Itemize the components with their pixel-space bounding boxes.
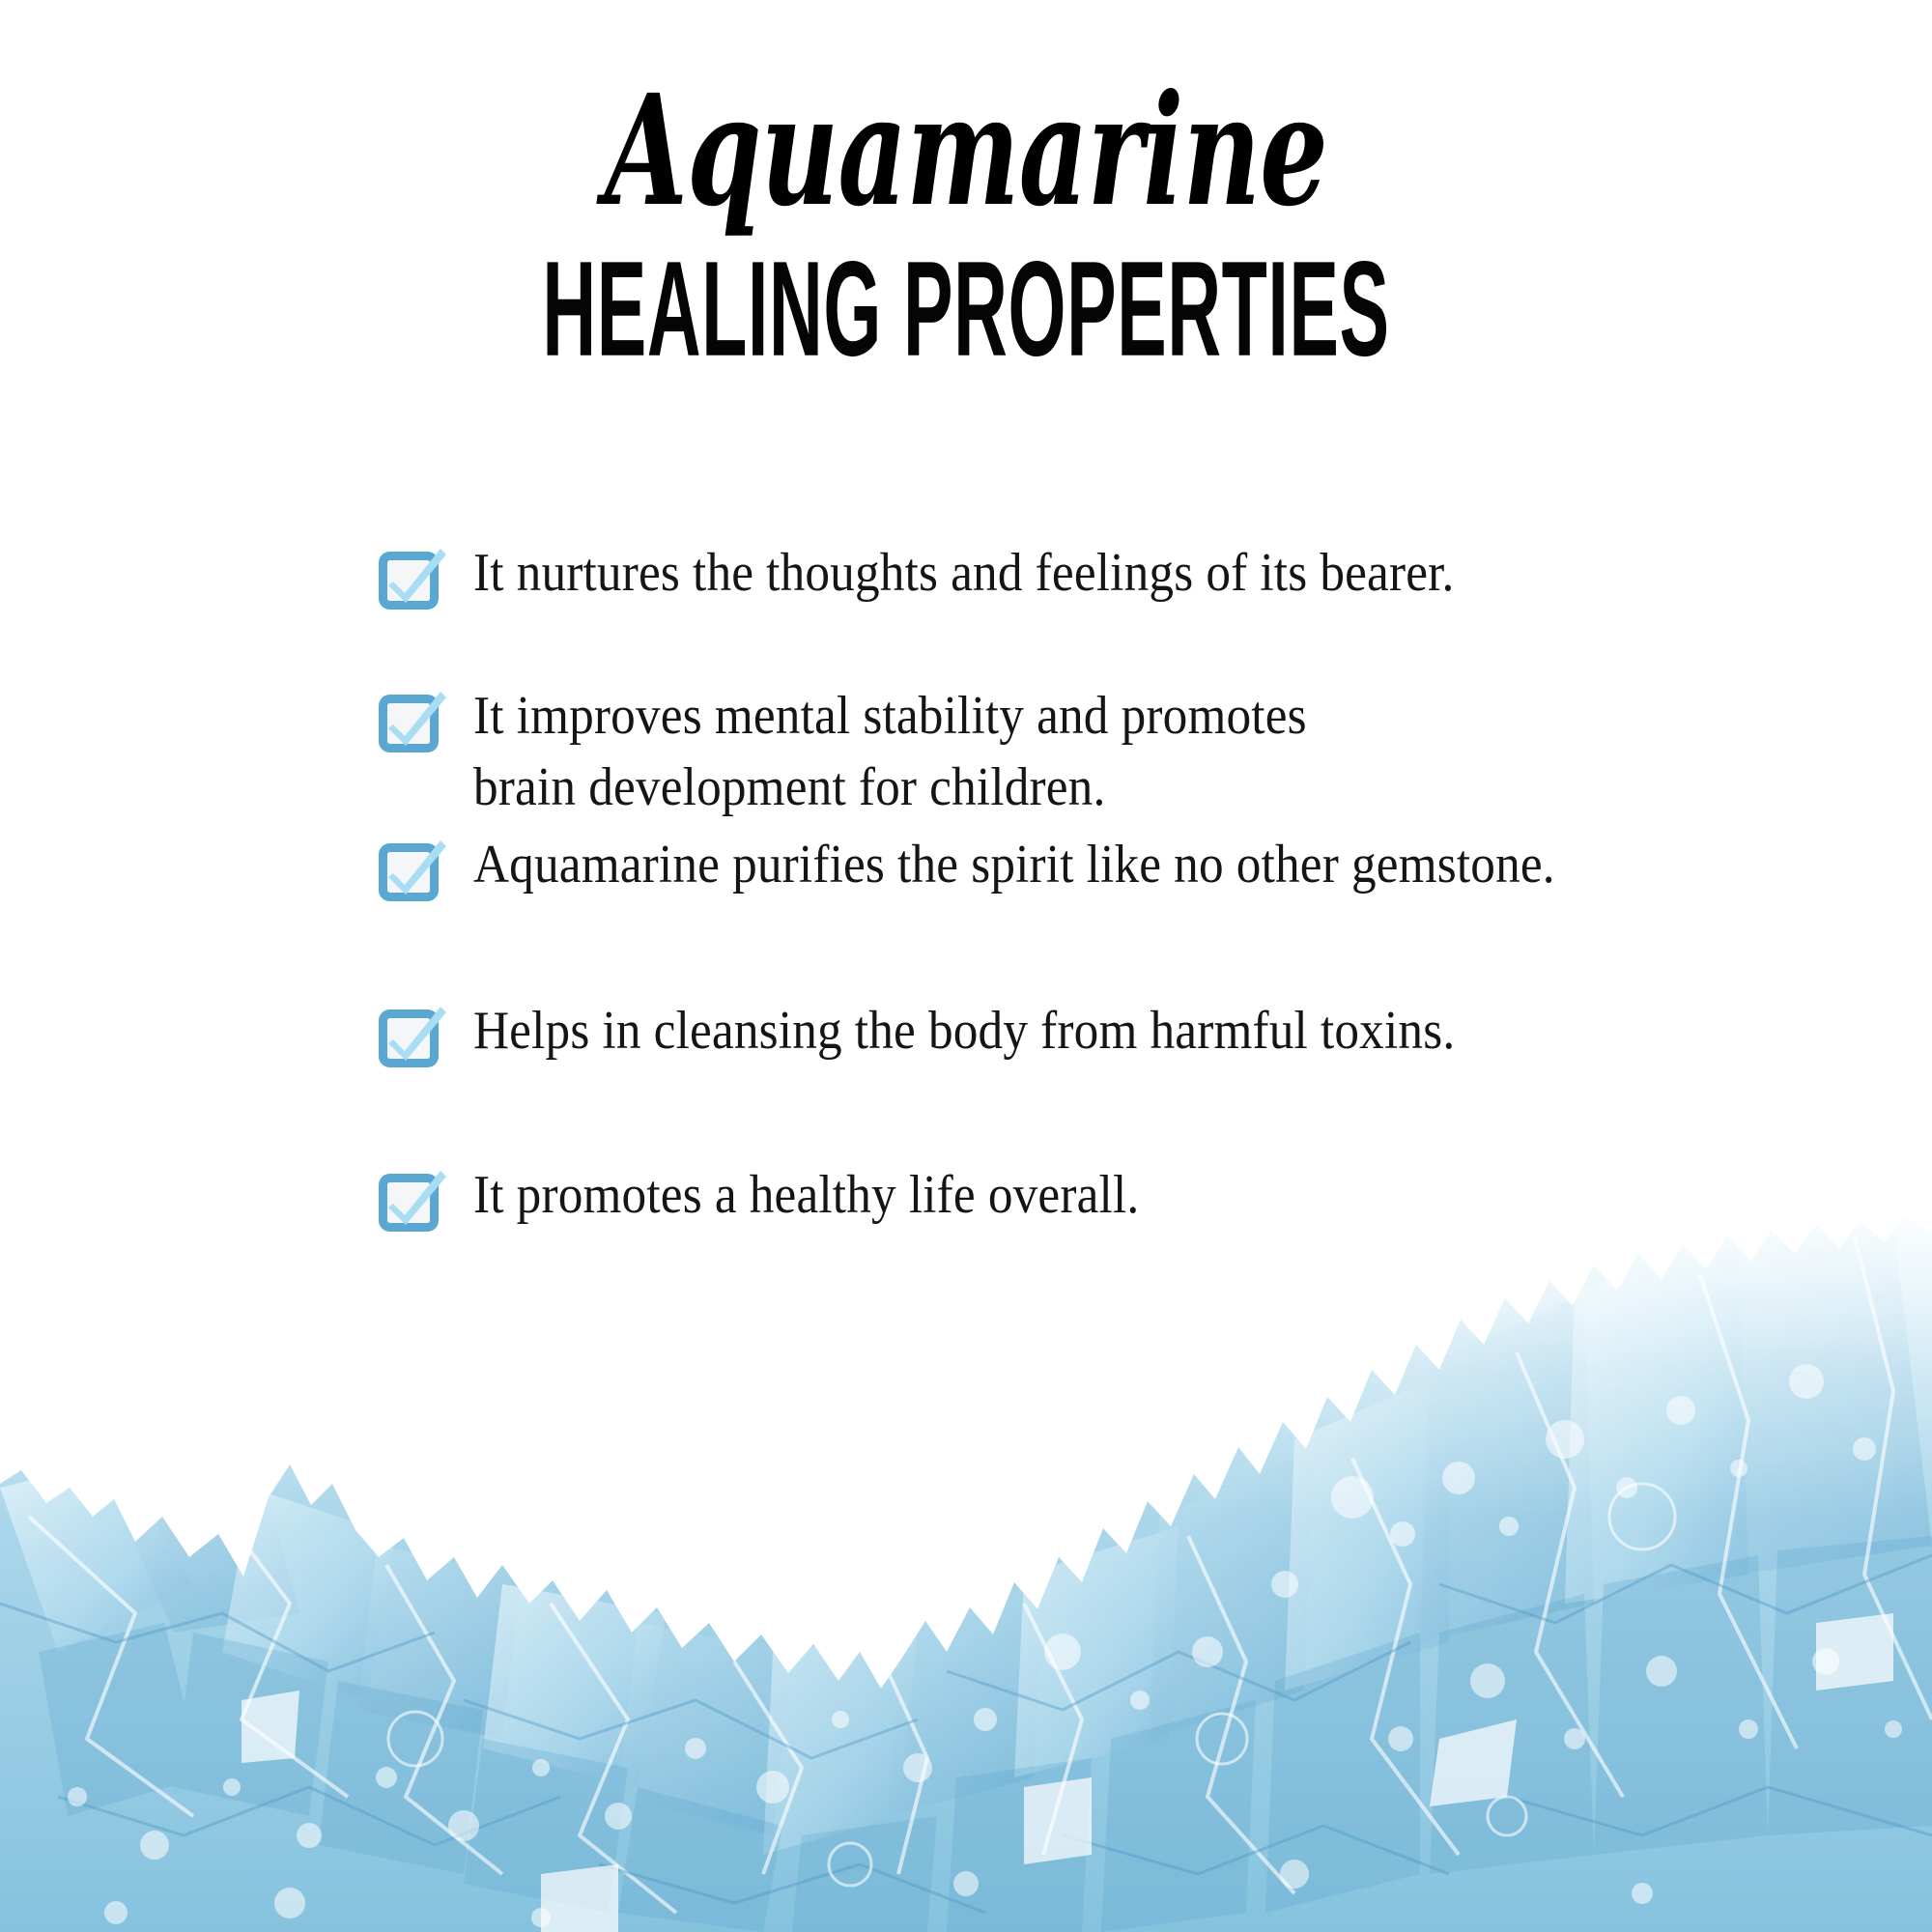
list-item: It nurtures the thoughts and feelings of… [379, 537, 1546, 612]
checked-checkbox-icon [379, 686, 448, 755]
page-title: Aquamarine [290, 75, 1642, 228]
poster-canvas: Aquamarine HEALING PROPERTIES It nurture… [0, 0, 1932, 1932]
ice-cubes-photo [0, 1198, 1932, 1932]
page-subtitle: HEALING PROPERTIES [401, 241, 1531, 377]
list-item-label: It nurtures the thoughts and feelings of… [473, 537, 1455, 609]
checked-checkbox-icon [379, 835, 448, 904]
list-item-label: It improves mental stability and promote… [473, 680, 1307, 824]
checked-checkbox-icon [379, 1001, 448, 1070]
list-item-label: Helps in cleansing the body from harmful… [473, 995, 1455, 1066]
list-item-label: Aquamarine purifies the spirit like no o… [473, 829, 1555, 900]
heading-block: Aquamarine HEALING PROPERTIES [0, 75, 1932, 373]
ice-cubes-illustration [0, 1198, 1932, 1932]
list-item: Helps in cleansing the body from harmful… [379, 995, 1547, 1070]
list-item: Aquamarine purifies the spirit like no o… [379, 829, 1656, 904]
list-item: It improves mental stability and promote… [379, 680, 1384, 824]
checked-checkbox-icon [379, 543, 448, 612]
